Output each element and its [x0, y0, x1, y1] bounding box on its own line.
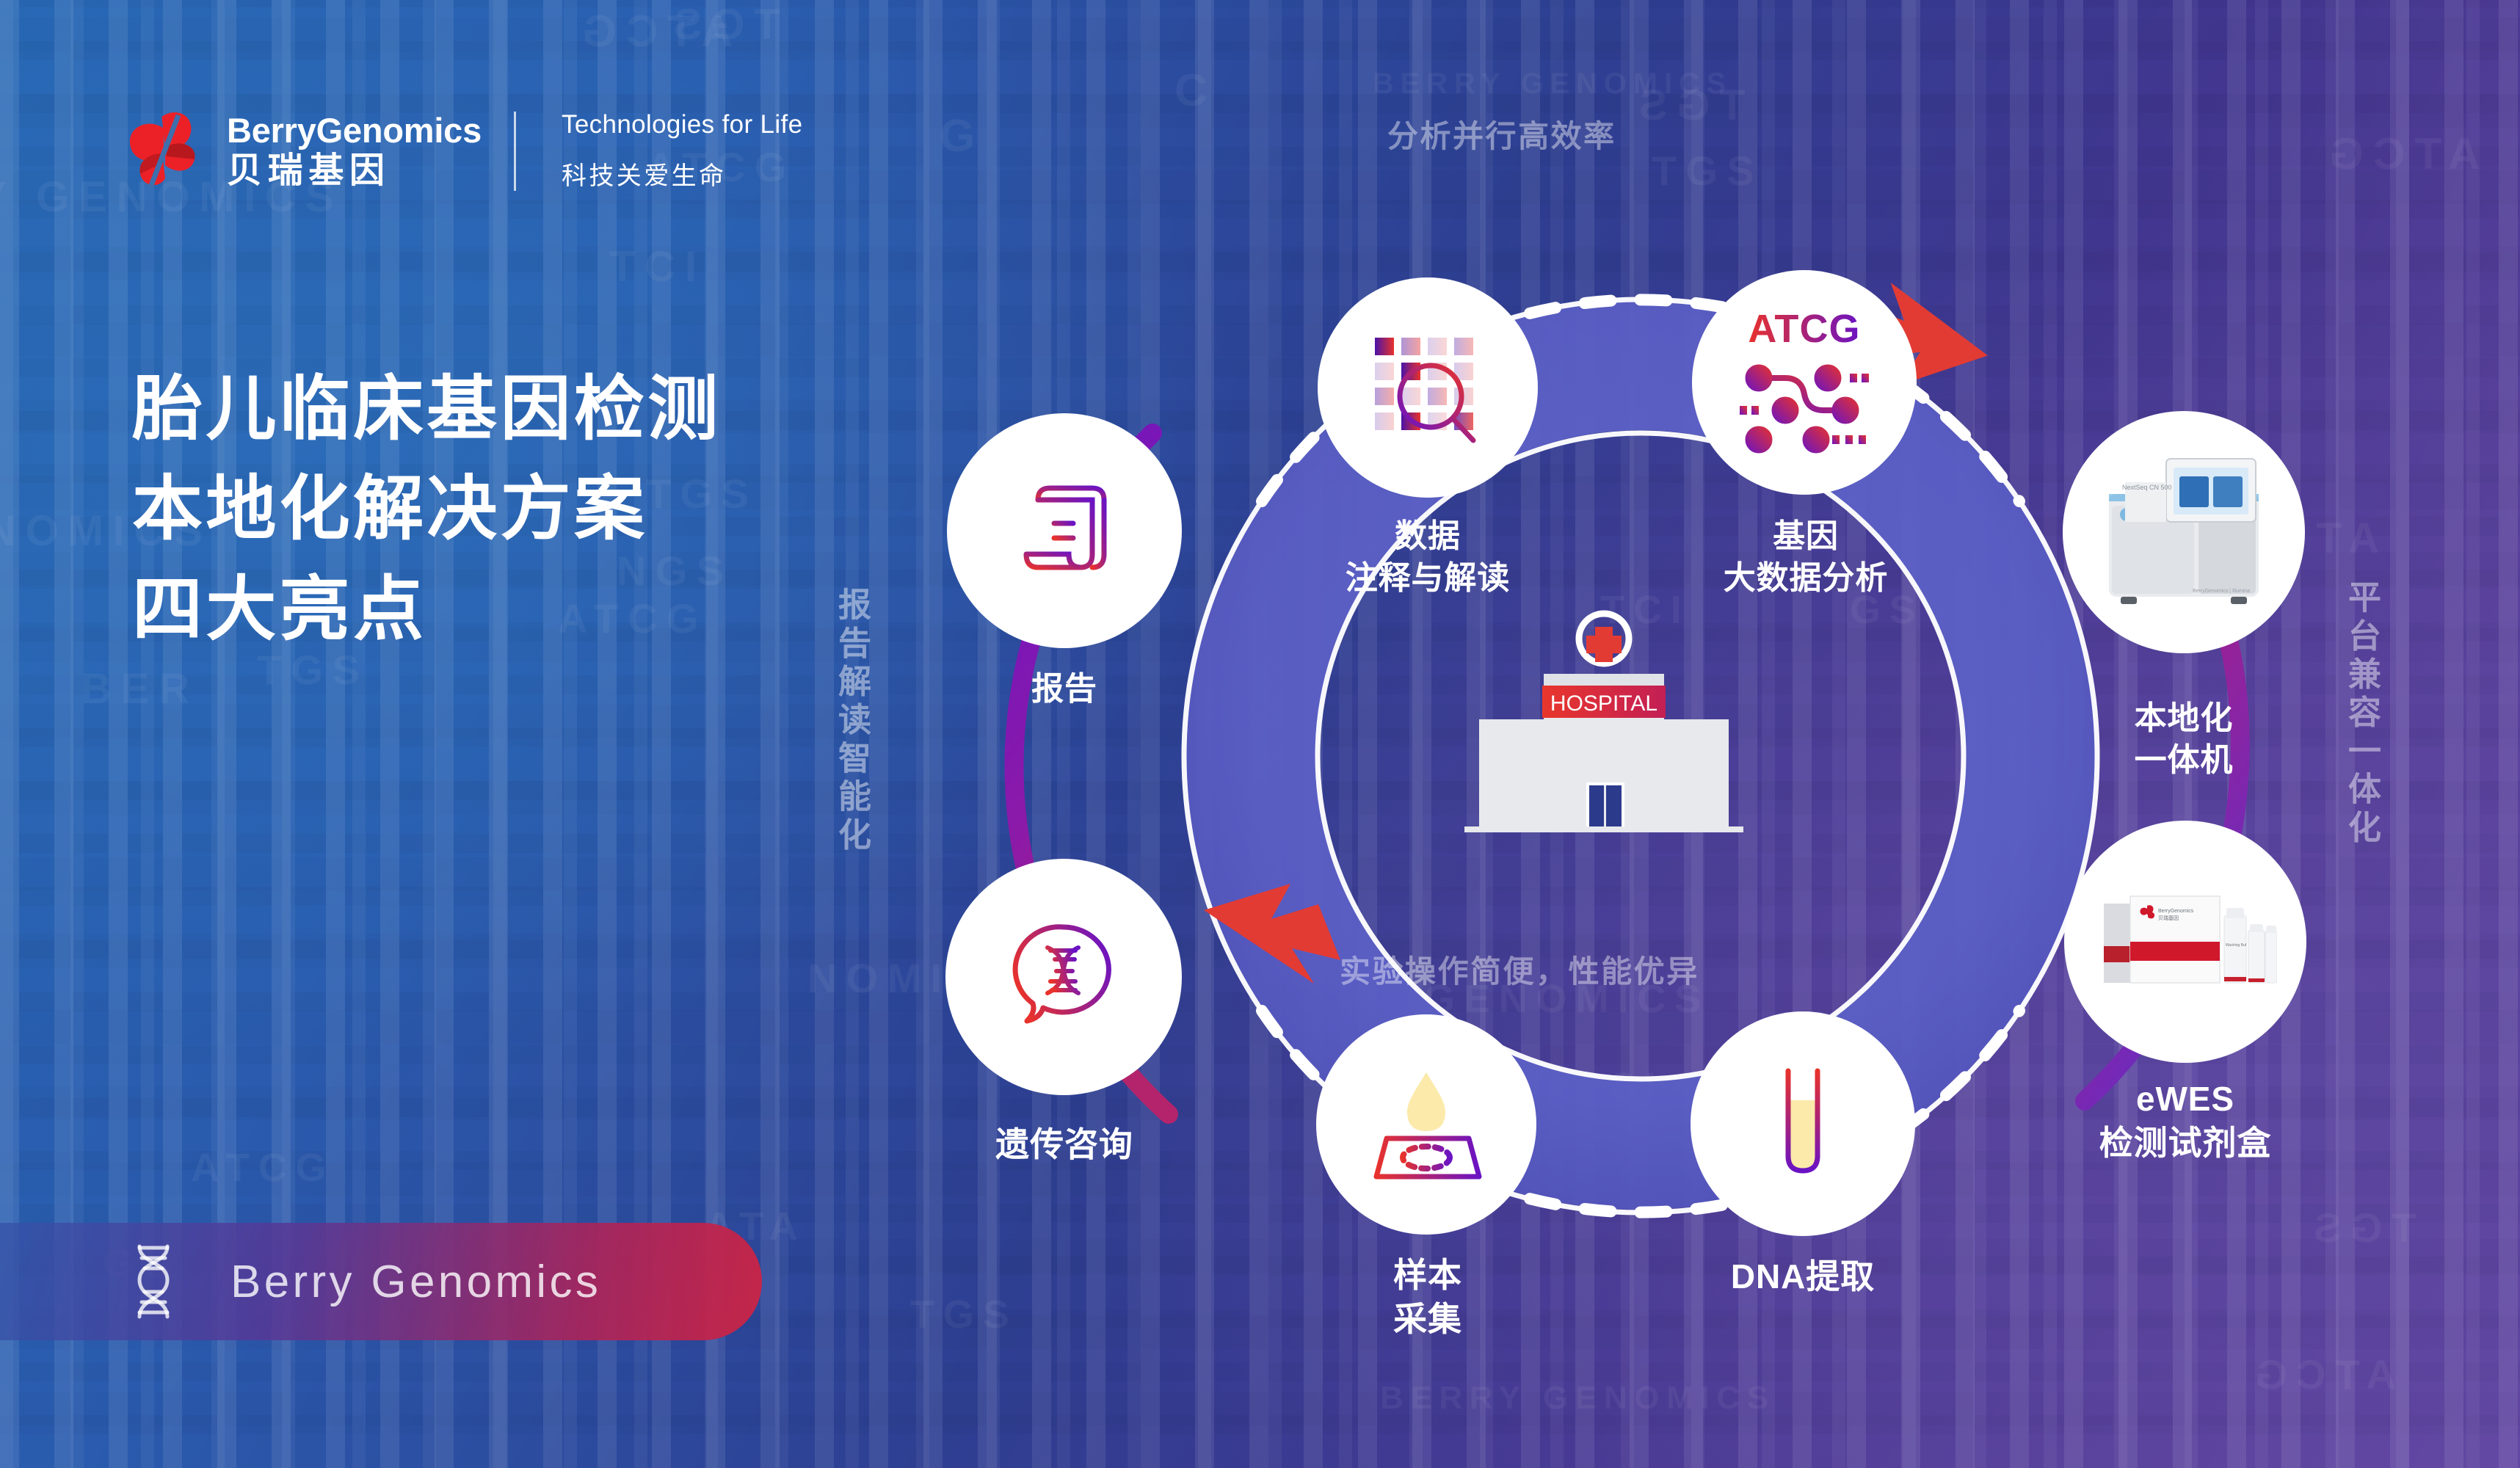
- title-line-1: 胎儿临床基因检测: [132, 360, 722, 459]
- workflow-label-sample: 样本 采集: [1321, 1254, 1534, 1342]
- page-title: 胎儿临床基因检测 本地化解决方案 四大亮点: [132, 360, 722, 660]
- header-divider: [514, 112, 516, 191]
- workflow-node-dna[interactable]: [1691, 1011, 1915, 1236]
- svg-text:BerryGenomics: BerryGenomics: [2158, 909, 2194, 914]
- workflow-label-sequencer: 本地化 一体机: [2077, 697, 2290, 781]
- workflow-node-data[interactable]: [1318, 277, 1538, 498]
- arc-caption-top: 分析并行高效率: [1387, 112, 1616, 156]
- background-watermark: ATCG: [2320, 128, 2480, 179]
- workflow-node-counseling[interactable]: [945, 859, 1182, 1095]
- brand-name-en: BerryGenomics: [227, 113, 482, 148]
- dna-speech-bubble-icon: [1005, 920, 1122, 1034]
- background-watermark: C: [1174, 65, 1217, 117]
- workflow-node-report[interactable]: [947, 413, 1182, 648]
- background-watermark: ATCG: [2246, 1351, 2396, 1398]
- background-watermark: BERRY GENOMICS: [1373, 68, 1732, 101]
- title-line-3: 四大亮点: [132, 560, 722, 660]
- svg-text:Washing Buf: Washing Buf: [2226, 943, 2247, 948]
- sequencer-machine-icon: NextSeq CN 500 BerryGenomics | Illumina: [2096, 451, 2272, 613]
- workflow-node-ewes[interactable]: BerryGenomics 贝瑞基因 Washing Buf: [2064, 821, 2306, 1063]
- background-watermark: G: [940, 110, 985, 162]
- background-watermark: ATCG: [191, 1145, 335, 1191]
- dna-helix-icon: [131, 1243, 176, 1320]
- title-line-2: 本地化解决方案: [132, 459, 722, 559]
- footer-brand-label: Berry Genomics: [230, 1256, 601, 1308]
- side-caption-left: 报告解读智能化: [828, 587, 876, 855]
- scroll-report-icon: [1009, 475, 1120, 586]
- svg-text:BerryGenomics | Illumina: BerryGenomics | Illumina: [2193, 589, 2250, 594]
- hospital-sign-text: HOSPITAL: [1550, 691, 1657, 716]
- workflow-node-sequencer[interactable]: NextSeq CN 500 BerryGenomics | Illumina: [2063, 411, 2305, 653]
- butterfly-logo-icon: [121, 111, 208, 192]
- background-watermark: BERRY GENOMICS: [1380, 1380, 1776, 1417]
- magnifier-grid-icon: [1369, 332, 1486, 443]
- workflow-label-dna: DNA提取: [1688, 1255, 1917, 1299]
- svg-text:NextSeq CN 500: NextSeq CN 500: [2122, 484, 2172, 491]
- tagline-en: Technologies for Life: [562, 110, 802, 139]
- background-watermark: BER: [81, 664, 199, 713]
- workflow-label-counseling: 遗传咨询: [925, 1123, 1204, 1167]
- atcg-network-icon: [1740, 362, 1869, 459]
- workflow-label-genome: 基因 大数据分析: [1707, 515, 1905, 599]
- workflow-label-report: 报告: [998, 668, 1130, 710]
- infographic-poster: ATCGTGSCTGSATCGGTGSY GENOMICSTCIBERRY GE…: [0, 0, 2520, 1468]
- workflow-label-data: 数据 注释与解读: [1336, 515, 1519, 599]
- workflow-label-ewes: eWES 检测试剂盒: [2064, 1078, 2306, 1166]
- genome-badge-atcg: ATCG: [1748, 306, 1860, 352]
- arc-caption-bottom: 实验操作简便，性能优异: [1340, 947, 1699, 992]
- workflow-node-genome[interactable]: ATCG: [1692, 270, 1917, 495]
- background-watermark: TGS: [664, 0, 780, 49]
- background-watermark: TGS: [1652, 147, 1763, 195]
- workflow-node-sample[interactable]: [1316, 1014, 1536, 1235]
- blood-drop-slide-icon: [1365, 1067, 1488, 1182]
- reagent-kit-icon: BerryGenomics 贝瑞基因 Washing Buf: [2094, 876, 2277, 1008]
- brand-name-cn: 贝瑞基因: [227, 153, 482, 189]
- svg-text:贝瑞基因: 贝瑞基因: [2158, 915, 2179, 921]
- hospital-illustration: HOSPITAL: [1450, 609, 1758, 844]
- test-tube-icon: [1769, 1062, 1837, 1185]
- footer-brand-pill: Berry Genomics: [0, 1223, 762, 1340]
- tagline-cn: 科技关爱生命: [562, 156, 802, 192]
- brand-header: BerryGenomics 贝瑞基因 Technologies for Life…: [121, 110, 802, 192]
- background-watermark: TCI: [609, 242, 706, 291]
